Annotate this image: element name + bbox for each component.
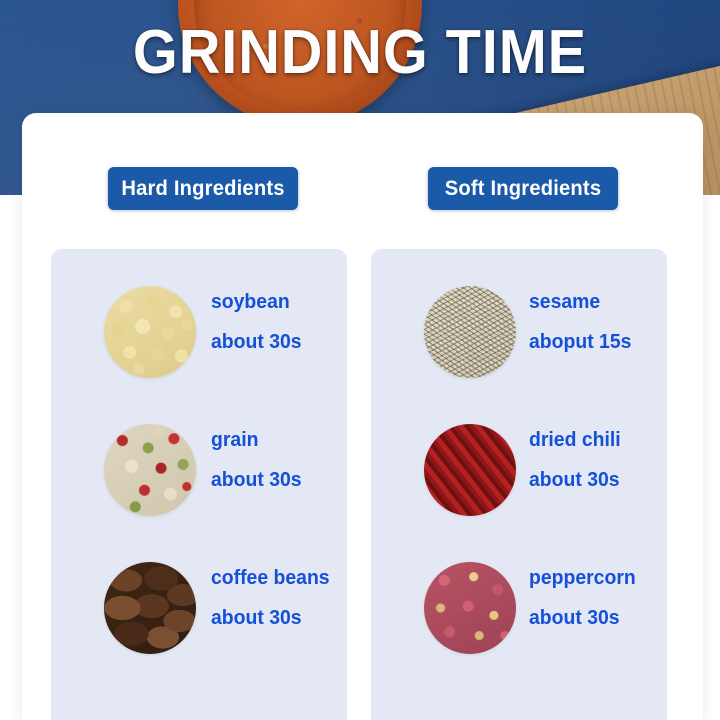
ingredient-name: dried chili	[529, 430, 657, 450]
tab-soft-ingredients[interactable]: Soft Ingredients	[428, 167, 618, 210]
grinding-time: about 30s	[529, 470, 657, 490]
list-item[interactable]: coffee beans about 30s	[51, 538, 347, 678]
list-item[interactable]: dried chili about 30s	[371, 400, 667, 540]
coffee-beans-thumb	[104, 562, 196, 654]
list-item[interactable]: peppercorn about 30s	[371, 538, 667, 678]
list-item[interactable]: soybean about 30s	[51, 262, 347, 402]
ingredient-panels: soybean about 30s grain about 30s coffee…	[22, 249, 703, 720]
ingredient-name: peppercorn	[529, 568, 657, 588]
soybean-thumb	[104, 286, 196, 378]
list-item-labels: sesame aboput 15s	[529, 292, 661, 352]
list-item[interactable]: grain about 30s	[51, 400, 347, 540]
list-item-labels: coffee beans about 30s	[211, 568, 343, 628]
grinding-time: about 30s	[211, 608, 339, 628]
ingredient-name: grain	[211, 430, 339, 450]
ingredient-name: sesame	[529, 292, 657, 312]
tab-hard-ingredients[interactable]: Hard Ingredients	[108, 167, 298, 210]
dried-chili-thumb	[424, 424, 516, 516]
panel-soft-ingredients: sesame aboput 15s dried chili about 30s …	[371, 249, 667, 720]
list-item-labels: dried chili about 30s	[529, 430, 661, 490]
list-item-labels: peppercorn about 30s	[529, 568, 661, 628]
sesame-thumb	[424, 286, 516, 378]
grinding-time: about 30s	[211, 332, 339, 352]
page-title: GRINDING TIME	[25, 22, 695, 84]
content-card: Hard Ingredients Soft Ingredients soybea…	[22, 113, 703, 720]
list-item[interactable]: sesame aboput 15s	[371, 262, 667, 402]
tab-bar: Hard Ingredients Soft Ingredients	[22, 167, 703, 211]
grinding-time: about 30s	[529, 608, 657, 628]
list-item-labels: grain about 30s	[211, 430, 343, 490]
list-item-labels: soybean about 30s	[211, 292, 343, 352]
grinding-time: aboput 15s	[529, 332, 657, 352]
panel-hard-ingredients: soybean about 30s grain about 30s coffee…	[51, 249, 347, 720]
grain-thumb	[104, 424, 196, 516]
ingredient-name: soybean	[211, 292, 339, 312]
grinding-time: about 30s	[211, 470, 339, 490]
grinding-time-infographic: GRINDING TIME Hard Ingredients Soft Ingr…	[0, 0, 720, 720]
peppercorn-thumb	[424, 562, 516, 654]
ingredient-name: coffee beans	[211, 568, 339, 588]
